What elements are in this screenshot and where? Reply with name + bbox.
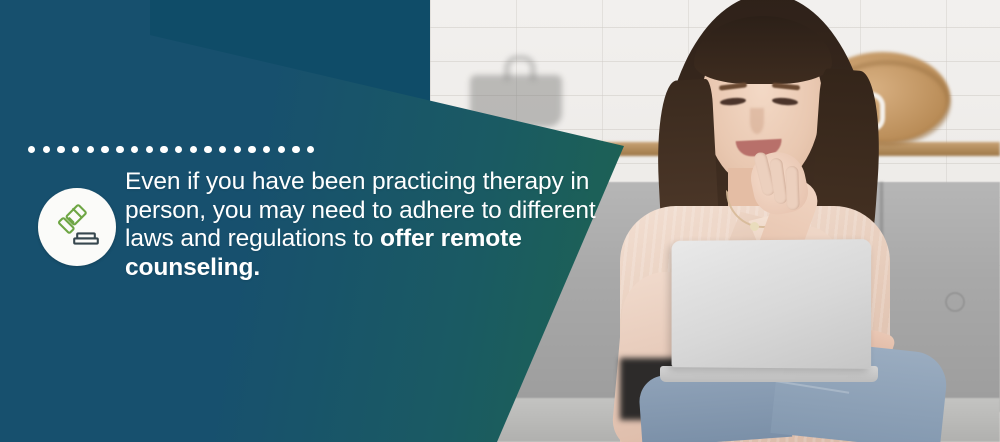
rule-dot [175,146,182,153]
rule-dot [263,146,270,153]
rule-dot [204,146,211,153]
rule-dot [160,146,167,153]
rule-dot [43,146,50,153]
quote-plain: Even if you have been practicing therapy… [125,168,596,252]
promo-banner: Even if you have been practicing therapy… [0,0,1000,442]
rule-dot [28,146,35,153]
quote-text: Even if you have been practicing therapy… [125,168,603,282]
rule-dot [190,146,197,153]
rule-dot [219,146,226,153]
couch-tuft-button [945,292,965,312]
rule-dot [101,146,108,153]
finger-ring [785,166,800,210]
necklace-pendant [750,222,759,231]
dotted-rule [28,146,314,153]
banner-content: Even if you have been practicing therapy… [0,0,624,442]
rule-dot [292,146,299,153]
rule-dot [248,146,255,153]
rule-dot [131,146,138,153]
gavel-icon-badge [38,188,116,266]
nose [750,108,764,134]
rule-dot [146,146,153,153]
gavel-icon [52,202,102,252]
rule-dot [278,146,285,153]
rule-dot [116,146,123,153]
rule-dot [87,146,94,153]
rule-dot [234,146,241,153]
laptop-screen-lid [672,239,872,369]
rule-dot [57,146,64,153]
rule-dot [307,146,314,153]
rule-dot [72,146,79,153]
